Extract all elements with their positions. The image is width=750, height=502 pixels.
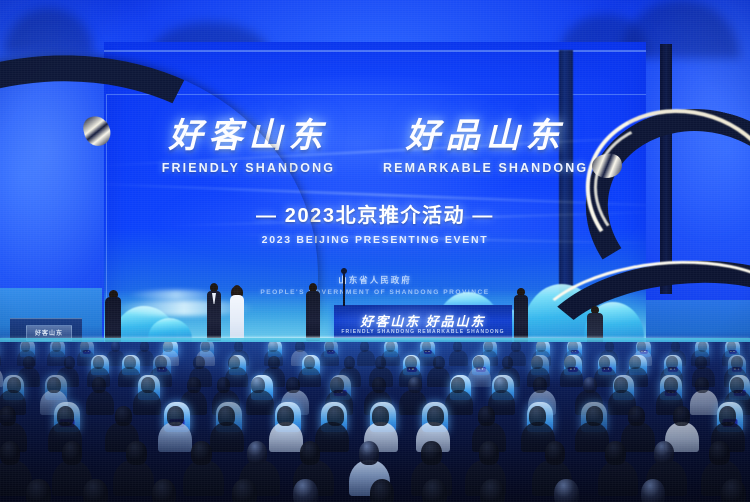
attendant-right (513, 288, 529, 342)
microphone-head (341, 268, 347, 274)
audience-member-shoulders (298, 367, 321, 387)
audience-member-head (286, 377, 300, 393)
audience-member-shoulders (113, 460, 154, 496)
audience-member-head (47, 377, 61, 393)
audience-member-head (494, 377, 508, 393)
audience-member-head (80, 342, 89, 352)
audience-member-head (330, 377, 344, 393)
audience-member-head (163, 342, 172, 352)
audience-member-head (52, 342, 61, 352)
audience-member-head (304, 356, 316, 370)
audience-member-head (568, 342, 577, 352)
audience-member-head (614, 377, 628, 393)
audience-member-head (251, 377, 265, 393)
audience-member-head (232, 479, 257, 502)
audience-member-head (422, 342, 431, 352)
audience-area (0, 342, 750, 502)
audience-member-head (451, 377, 465, 393)
audience-member-head (92, 377, 106, 393)
audience-member-head (421, 441, 441, 465)
audience-member-shoulders (133, 390, 161, 415)
audience-member-head (57, 406, 74, 426)
audience-member-head (433, 356, 445, 370)
audience-member-head (359, 441, 379, 465)
audience-member-shoulders (86, 390, 114, 415)
lectern-label: 好客山东 (27, 328, 71, 337)
person-body (306, 291, 320, 341)
audience-member-head (293, 479, 318, 502)
podium-sign-en: FRIENDLY SHANDONG REMARKABLE SHANDONG (334, 329, 512, 335)
audience-member-head (533, 377, 547, 393)
audience-member-head (453, 342, 462, 352)
audience-member-head (187, 377, 201, 393)
audience-member-head (673, 406, 690, 426)
audience-member-head (698, 342, 707, 352)
microphone-icon (343, 272, 345, 306)
audience-member-head (730, 377, 744, 393)
audience-member-head (124, 356, 136, 370)
audience-member-head (511, 342, 520, 352)
speaker-center (305, 283, 321, 341)
audience-member-head (666, 356, 678, 370)
audience-member-head (0, 441, 20, 465)
audience-member-head (83, 479, 108, 502)
audience-member-head (605, 441, 625, 465)
audience-member-head (21, 342, 30, 352)
audience-member-head (586, 406, 603, 426)
audience-member-head (344, 356, 356, 370)
audience-member-head (605, 342, 614, 352)
audience-member-shoulders (0, 350, 1, 367)
audience-member-head (695, 377, 709, 393)
audience-member-head (111, 342, 120, 352)
audience-member-shoulders (575, 422, 609, 452)
audience-member-head (141, 377, 155, 393)
audience-member-head (599, 356, 611, 370)
audience-member-head (721, 479, 746, 502)
audience-member-head (719, 406, 736, 426)
audience-member-head (484, 342, 493, 352)
audience-member-head (731, 356, 743, 370)
stage-event-photo: 好客山东 FRIENDLY SHANDONG 好品山东 REMARKABLE S… (0, 0, 750, 502)
audience-member-head (473, 356, 485, 370)
person-body (105, 297, 121, 342)
audience-member-head (422, 479, 447, 502)
audience-member-head (405, 356, 417, 370)
audience-member-head (583, 377, 597, 393)
audience-member-shoulders (690, 390, 718, 415)
audience-member-shoulders (246, 390, 274, 415)
audience-member-head (7, 377, 21, 393)
audience-member-head (671, 342, 680, 352)
audience-member-head (531, 356, 543, 370)
audience-member-head (268, 342, 277, 352)
audience-member-head (62, 441, 82, 465)
audience-member-shoulders (269, 422, 303, 452)
audience-member-head (372, 406, 389, 426)
audience-member-shoulders (315, 422, 349, 452)
audience-member-head (536, 342, 545, 352)
audience-member-shoulders (621, 422, 655, 452)
audience-member-head (427, 406, 444, 426)
audience-member-head (277, 406, 294, 426)
audience-member-shoulders (445, 390, 473, 415)
audience-member-shoulders (598, 460, 639, 496)
audience-member-head (479, 441, 499, 465)
audience-member-head (126, 441, 146, 465)
audience-member-head (155, 356, 167, 370)
audience-member-head (325, 342, 334, 352)
audience-member-head (695, 356, 707, 370)
audience-member-head (408, 377, 422, 393)
audience-member-head (140, 342, 149, 352)
audience-member-head (115, 406, 132, 426)
audience-member-shoulders (427, 367, 450, 387)
audience-member-shoulders (468, 367, 491, 387)
audience-member-head (502, 356, 514, 370)
audience-member-head (201, 342, 210, 352)
audience-member-head (564, 356, 576, 370)
person-body (514, 295, 528, 342)
audience-member-head (480, 479, 505, 502)
audience-member-head (26, 479, 51, 502)
audience-member-head (218, 406, 235, 426)
audience-member-shoulders (560, 367, 583, 387)
audience-member-head (360, 342, 369, 352)
audience-member-head (234, 342, 243, 352)
audience-member-head (300, 441, 320, 465)
audience-member-head (217, 377, 231, 393)
audience-member-head (478, 406, 495, 426)
stage-attendant-left (103, 290, 123, 342)
audience-member-shoulders (183, 460, 224, 496)
audience-member-shoulders (158, 422, 192, 452)
host-male (206, 283, 222, 341)
audience-member-head (637, 342, 646, 352)
audience-member-shoulders (449, 350, 468, 367)
title-right-group: 好品山东 REMARKABLE SHANDONG (383, 120, 588, 175)
audience-member-head (167, 406, 184, 426)
audience-member-head (23, 356, 35, 370)
audience-member-head (372, 377, 386, 393)
person-body (230, 295, 244, 341)
audience-member-head (545, 441, 565, 465)
audience-member-head (529, 406, 546, 426)
audience-member-head (628, 406, 645, 426)
person-head (233, 285, 241, 294)
audience-member-head (654, 441, 674, 465)
audience-member-head (295, 342, 304, 352)
audience-member-head (554, 479, 579, 502)
audience-member-head (386, 342, 395, 352)
audience-member-head (191, 441, 211, 465)
audience-member-head (664, 377, 678, 393)
audience-member-head (193, 356, 205, 370)
audience-member-shoulders (47, 350, 66, 367)
audience-member-head (247, 441, 267, 465)
title-right-cn: 好品山东 (383, 120, 588, 154)
audience-member-shoulders (320, 350, 339, 367)
audience-member-head (64, 356, 76, 370)
audience-member-head (228, 356, 240, 370)
audience-member-head (709, 441, 729, 465)
audience-member-head (727, 342, 736, 352)
title-right-en: REMARKABLE SHANDONG (383, 161, 588, 175)
audience-member-head (93, 356, 105, 370)
audience-member-head (641, 479, 666, 502)
audience-member-head (0, 406, 16, 426)
audience-member-head (370, 479, 395, 502)
audience-member-head (268, 356, 280, 370)
audience-member-shoulders (210, 422, 244, 452)
host-female (229, 285, 245, 341)
audience-member-head (629, 356, 641, 370)
audience-member-head (327, 406, 344, 426)
audience-member-shoulders (357, 350, 376, 367)
podium-sign-cn: 好客山东 好品山东 (334, 311, 512, 330)
audience-member-head (375, 356, 387, 370)
audience-member-head (152, 479, 177, 502)
